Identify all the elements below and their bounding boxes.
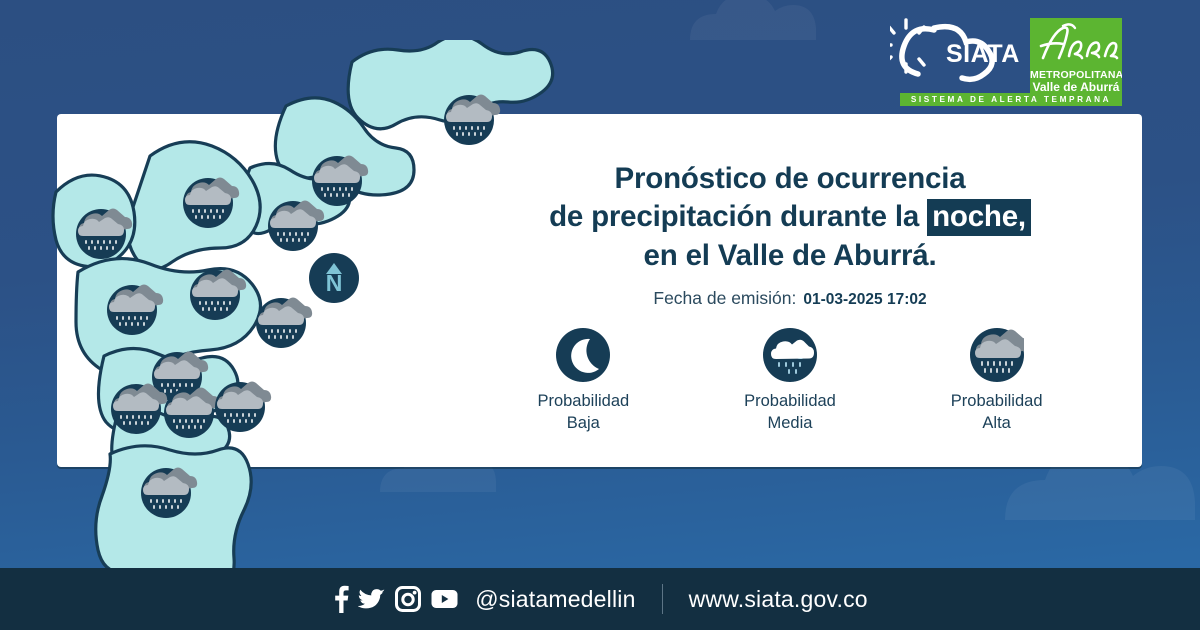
cloud-moon-rain-icon — [763, 328, 817, 382]
legend-label-alta: Probabilidad Alta — [951, 391, 1043, 435]
instagram-icon[interactable] — [395, 586, 421, 612]
legend-label-media-l1: Probabilidad — [744, 392, 836, 410]
infographic-root: N SIATA — [0, 0, 1200, 630]
social-handle[interactable]: @siatamedellin — [475, 586, 635, 613]
title-block: Pronóstico de ocurrencia de precipitació… — [470, 160, 1110, 309]
legend-label-baja-l1: Probabilidad — [537, 392, 629, 410]
legend-label-baja-l2: Baja — [567, 414, 600, 432]
area-metropolitana-logo: METROPOLITANA Valle de Aburrá — [1030, 18, 1122, 96]
emission-date-label: Fecha de emisión: — [653, 288, 796, 309]
title-line-3: en el Valle de Aburrá. — [470, 237, 1110, 275]
logo-group: SIATA METROPOLITANA Valle de Aburrá — [890, 18, 1122, 96]
legend-label-baja: Probabilidad Baja — [537, 391, 629, 435]
website-url[interactable]: www.siata.gov.co — [689, 586, 868, 613]
valle-de-aburra-map: N — [0, 40, 560, 600]
siata-logo: SIATA — [890, 18, 1020, 88]
map-station-icon — [215, 382, 271, 433]
title-line-2-text: de precipitación durante la — [549, 200, 927, 233]
legend-label-alta-l2: Alta — [982, 414, 1010, 432]
emission-date-row: Fecha de emisión: 01-03-2025 17:02 — [470, 288, 1110, 309]
legend: Probabilidad Baja Probabilidad — [480, 328, 1100, 435]
siata-wordmark: SIATA — [946, 40, 1020, 68]
twitter-icon[interactable] — [358, 585, 386, 613]
youtube-icon[interactable] — [430, 588, 459, 610]
title-highlight-noche: noche, — [927, 199, 1031, 236]
legend-label-media-l2: Media — [768, 414, 813, 432]
area-logo-subtitle: METROPOLITANA Valle de Aburrá — [1030, 70, 1122, 93]
area-logo-line2: Valle de Aburrá — [1030, 81, 1122, 93]
legend-label-alta-l1: Probabilidad — [951, 392, 1043, 410]
legend-label-media: Probabilidad Media — [744, 391, 836, 435]
compass-label: N — [326, 270, 343, 296]
moon-icon — [556, 328, 610, 382]
cloud-heavy-rain-icon — [970, 328, 1024, 382]
legend-item-baja: Probabilidad Baja — [496, 328, 671, 435]
map-station-icon — [256, 298, 312, 349]
map-station-icon — [312, 156, 368, 207]
legend-item-alta: Probabilidad Alta — [909, 328, 1084, 435]
footer-bar: @siatamedellin www.siata.gov.co — [0, 568, 1200, 630]
title-line-1: Pronóstico de ocurrencia — [470, 160, 1110, 198]
tagline-text: SISTEMA DE ALERTA TEMPRANA — [911, 95, 1111, 104]
footer-divider — [662, 584, 663, 614]
legend-item-media: Probabilidad Media — [702, 328, 877, 435]
social-icon-group — [332, 585, 459, 613]
emission-date-value: 01-03-2025 17:02 — [803, 291, 926, 309]
map-station-icon — [444, 95, 500, 146]
facebook-icon[interactable] — [332, 585, 349, 613]
title-line-2: de precipitación durante la noche, — [470, 198, 1110, 236]
area-script-mark — [1035, 20, 1121, 64]
north-arrow-icon: N — [309, 253, 359, 303]
tagline-bar: SISTEMA DE ALERTA TEMPRANA — [900, 93, 1122, 106]
map-station-icon — [268, 201, 324, 252]
